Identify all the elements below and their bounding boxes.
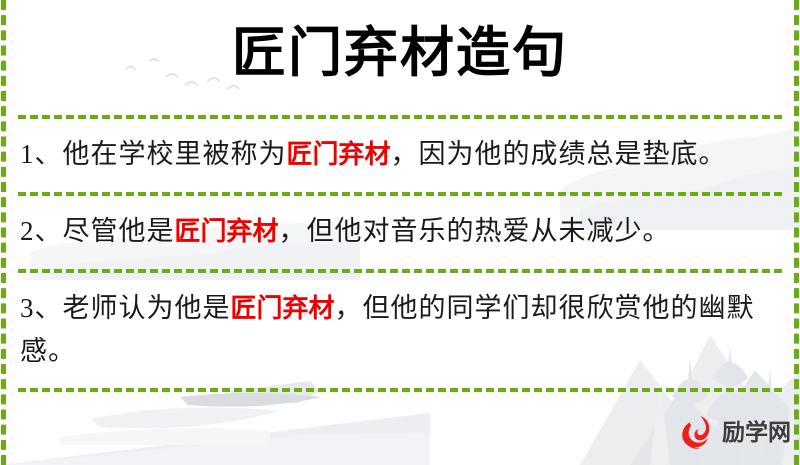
- sentence-number: 2、: [20, 216, 63, 246]
- site-logo[interactable]: 励学网: [676, 410, 788, 456]
- sentence-item-1: 1、他在学校里被称为匠门弃材，因为他的成绩总是垫底。: [20, 133, 776, 176]
- sentence-text-before: 尽管他是: [63, 216, 175, 246]
- ink-wash-boat-icon: [60, 375, 390, 445]
- divider-sentence-2-bottom: [18, 269, 782, 273]
- idiom-highlight: 匠门弃材: [287, 140, 391, 170]
- sentence-number: 1、: [20, 139, 63, 169]
- sentence-item-2: 2、尽管他是匠门弃材，但他对音乐的热爱从未减少。: [20, 210, 776, 253]
- page-root: 匠门弃材造句 1、他在学校里被称为匠门弃材，因为他的成绩总是垫底。 2、尽管他是…: [0, 0, 800, 465]
- sentence-item-3: 3、老师认为他是匠门弃材，但他的同学们却很欣赏他的幽默感。: [20, 287, 776, 372]
- logo-text: 励学网: [722, 422, 791, 445]
- ink-wash-hill-icon: [0, 405, 430, 465]
- sentence-text-after: ，因为他的成绩总是垫底。: [391, 139, 727, 169]
- idiom-highlight: 匠门弃材: [231, 294, 335, 324]
- sentence-text-before: 他在学校里被称为: [63, 139, 287, 169]
- sentence-text-before: 老师认为他是: [63, 293, 231, 323]
- divider-sentence-1-bottom: [18, 192, 782, 196]
- idiom-highlight: 匠门弃材: [175, 217, 279, 247]
- sentence-text-after: ，但他对音乐的热爱从未减少。: [279, 216, 671, 246]
- page-title: 匠门弃材造句: [0, 20, 800, 86]
- divider-sentence-3-bottom: [18, 388, 782, 392]
- divider-title-bottom: [18, 115, 782, 119]
- flame-swirl-logo-icon: [676, 413, 716, 453]
- sentence-number: 3、: [20, 293, 63, 323]
